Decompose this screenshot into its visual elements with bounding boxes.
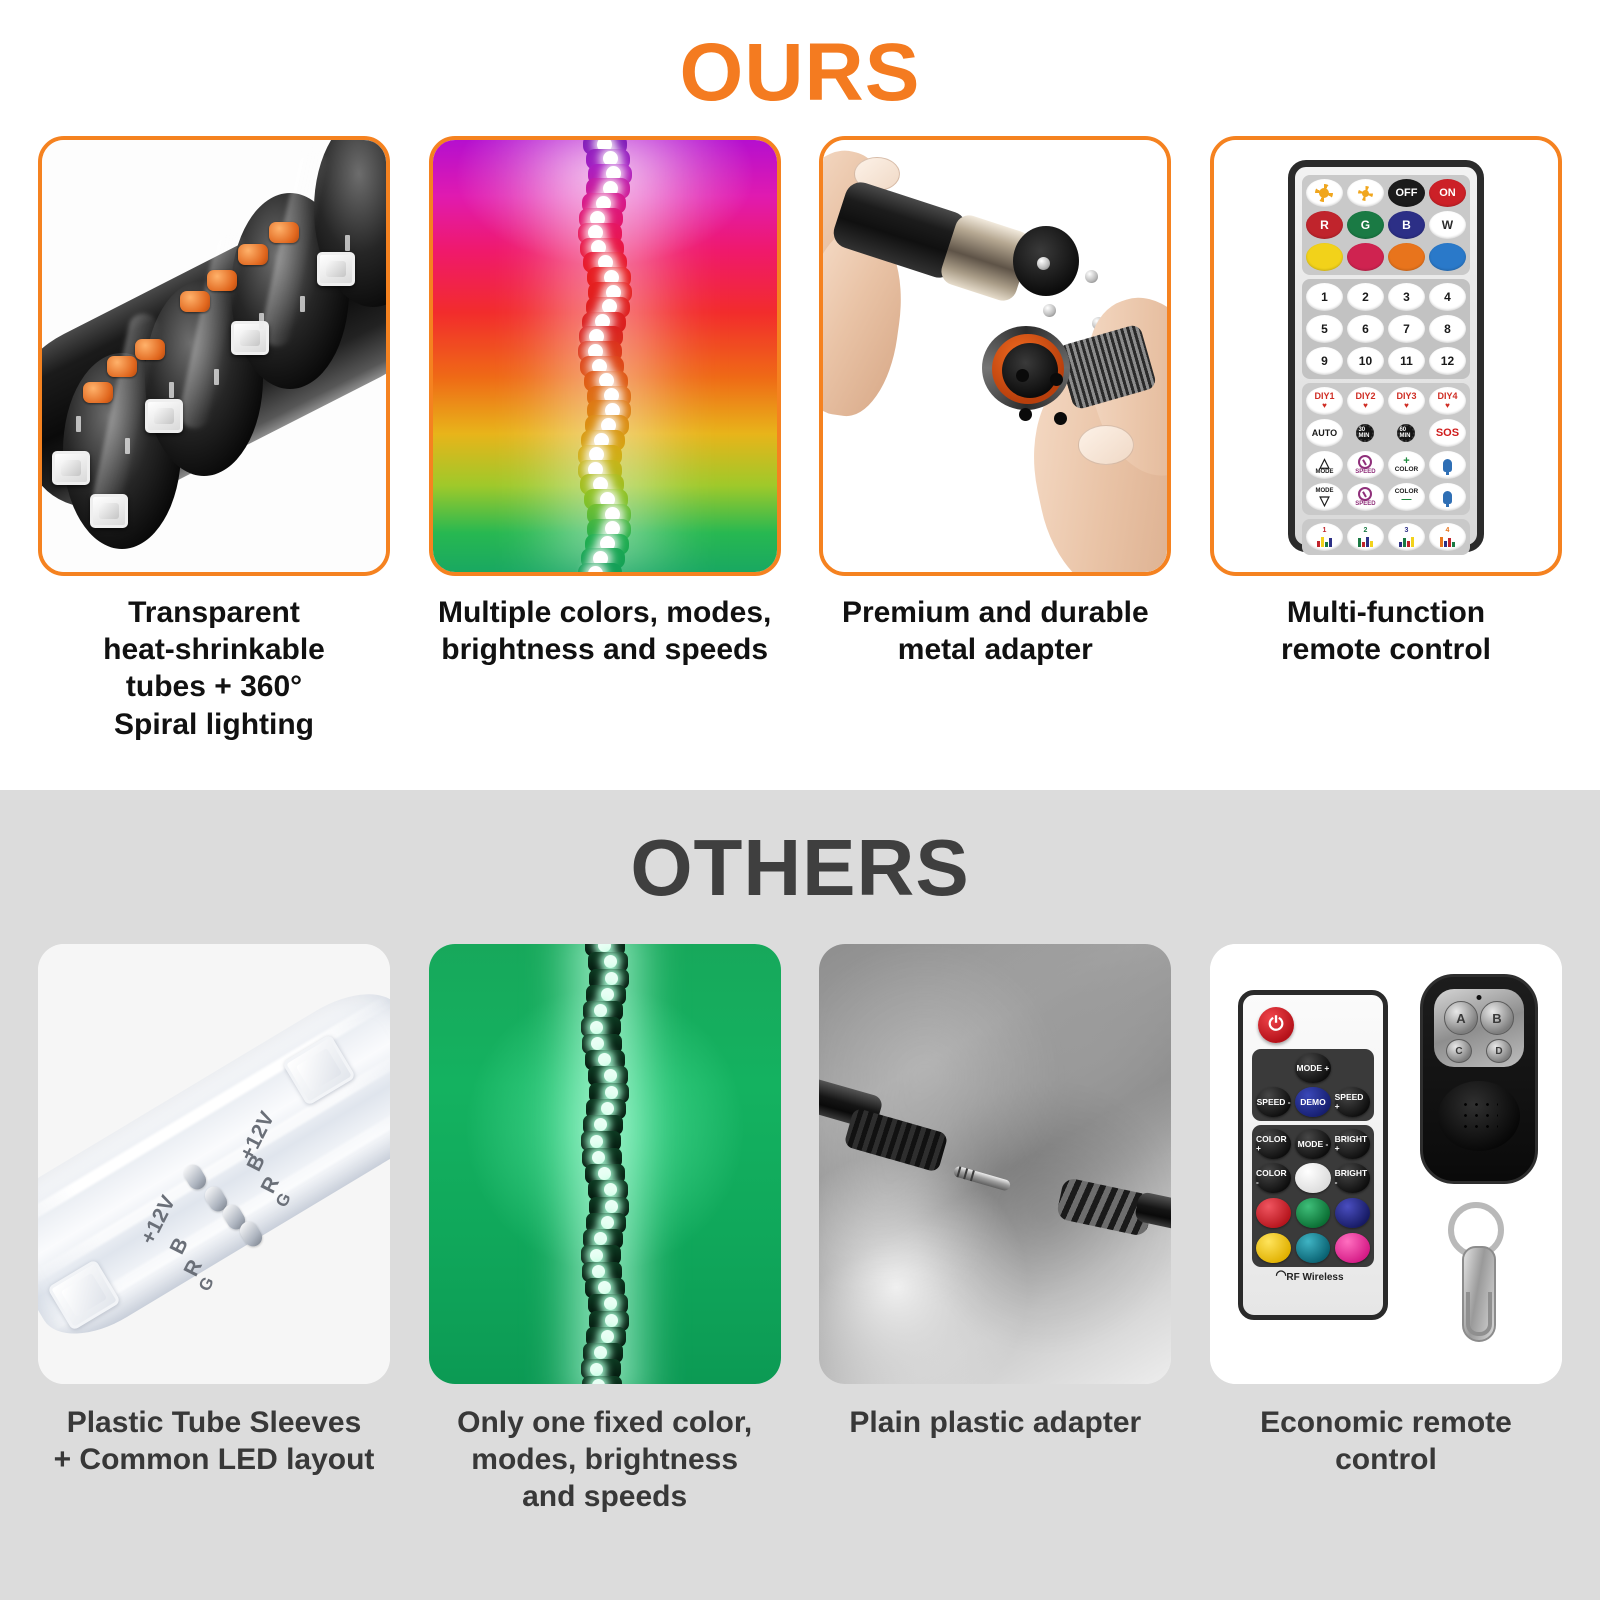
mode-up-label: MODE	[1315, 469, 1333, 475]
metal-adapter-thumbnail[interactable]	[819, 136, 1171, 576]
keyfob-button-d[interactable]: D	[1486, 1039, 1512, 1063]
ir-panel-music: 1 2	[1302, 519, 1470, 555]
silkscreen-mark	[259, 313, 264, 329]
equalizer-icon	[1317, 534, 1332, 547]
metal-adapter-photo	[823, 140, 1167, 572]
speed-up-button[interactable]: SPEED	[1347, 451, 1384, 479]
rf-row-color-mode-bright: COLOR + MODE - BRIGHT +	[1256, 1129, 1370, 1159]
blue-button[interactable]: B	[1388, 211, 1425, 239]
on-button[interactable]: ON	[1429, 179, 1466, 207]
rf-remote-body: ⏻ MODE + SPEED - DEMO	[1238, 990, 1388, 1320]
number-button-11[interactable]: 11	[1388, 347, 1425, 375]
card-caption: Multiple colors, modes, brightness and s…	[429, 594, 781, 668]
solder-pad	[238, 244, 268, 265]
keyfob-faceplate: A B C D	[1434, 989, 1524, 1067]
music-4-label: 4	[1446, 527, 1450, 534]
rf-row-colors-1	[1256, 1198, 1370, 1228]
led-highlight	[590, 1021, 603, 1034]
number-button-9[interactable]: 9	[1306, 347, 1343, 375]
red-button[interactable]: R	[1306, 211, 1343, 239]
economic-remote-photo: ⏻ MODE + SPEED - DEMO	[1210, 944, 1562, 1384]
silkscreen-mark	[214, 369, 219, 385]
led-highlight	[605, 972, 618, 985]
speed-gauge-icon	[1358, 487, 1372, 501]
card-caption: Plastic Tube Sleeves + Common LED layout	[38, 1404, 390, 1478]
led-chip	[52, 451, 90, 485]
solder-pad	[269, 222, 299, 243]
minus-icon: —	[1401, 495, 1411, 505]
green-strip-thumbnail[interactable]	[429, 944, 781, 1384]
equalizer-icon	[1399, 534, 1414, 547]
rf-row-color-white-bright: COLOR - BRIGHT -	[1256, 1163, 1370, 1193]
power-icon: ⏻	[1268, 1014, 1283, 1036]
number-button-1[interactable]: 1	[1306, 283, 1343, 311]
equalizer-icon	[1440, 534, 1455, 547]
color-button-red[interactable]	[1256, 1198, 1291, 1228]
green-strip-photo	[429, 944, 781, 1384]
timer-30min-button[interactable]: 30 MIN	[1347, 419, 1384, 447]
color-button-navy[interactable]	[1335, 1198, 1370, 1228]
card-caption: Only one fixed color, modes, brightness …	[429, 1404, 781, 1516]
brightness-up-button[interactable]	[1306, 179, 1343, 207]
number-button-8[interactable]: 8	[1429, 315, 1466, 343]
color-swatch-yellow[interactable]	[1306, 243, 1343, 271]
sun-dim-icon	[1362, 190, 1369, 197]
spiral-tube-thumbnail[interactable]	[38, 136, 390, 576]
solder-pad	[180, 291, 210, 312]
color-button-pink[interactable]	[1335, 1233, 1370, 1263]
microphone-icon	[1443, 459, 1452, 472]
heart-icon: ♥	[1363, 402, 1368, 410]
off-button[interactable]: OFF	[1388, 179, 1425, 207]
socket-face	[1002, 343, 1058, 398]
rf-brand-label: RF Wireless	[1252, 1272, 1374, 1283]
sos-button[interactable]: SOS	[1429, 419, 1466, 447]
rf-pad-bottom: COLOR + MODE - BRIGHT + COLOR - BRIGHT -	[1252, 1125, 1374, 1267]
auto-button[interactable]: AUTO	[1306, 419, 1343, 447]
green-lit-strip	[585, 944, 625, 1384]
ir-row-auto: AUTO 30 MIN 60 MIN SOS	[1306, 419, 1466, 447]
rainbow-strip-photo	[433, 140, 777, 572]
ir-panel-power: OFF ON R G B W	[1302, 175, 1470, 275]
silkscreen-mark	[76, 416, 81, 432]
silkscreen-mark	[300, 296, 305, 312]
music-mode-1-button[interactable]: 1	[1306, 523, 1343, 551]
silkscreen-mark	[169, 382, 174, 398]
speed-up-label: SPEED	[1355, 469, 1375, 475]
ir-row-mode-down: MODE ▽ SPEED COLOR —	[1306, 483, 1466, 511]
white-button[interactable]: W	[1429, 211, 1466, 239]
color-minus-button[interactable]: COLOR -	[1256, 1163, 1291, 1193]
demo-button[interactable]: DEMO	[1295, 1087, 1330, 1117]
timer-60-icon: 60 MIN	[1397, 424, 1415, 442]
heart-icon: ♥	[1404, 402, 1409, 410]
rf-pad-top: MODE + SPEED - DEMO SPEED +	[1252, 1049, 1374, 1121]
section-title-ours: OURS	[0, 0, 1600, 114]
ir-row-numbers-1: 1 2 3 4	[1306, 283, 1466, 311]
solder-pad	[107, 356, 137, 377]
solder-pad	[135, 339, 165, 360]
bright-minus-button[interactable]: BRIGHT -	[1335, 1163, 1370, 1193]
brightness-down-button[interactable]	[1347, 179, 1384, 207]
speed-gauge-icon	[1358, 455, 1372, 469]
connector-pin	[1085, 270, 1098, 283]
number-button-7[interactable]: 7	[1388, 315, 1425, 343]
others-card-green-strip: Only one fixed color, modes, brightness …	[429, 944, 781, 1516]
chevron-down-icon: ▽	[1319, 494, 1329, 507]
microphone-icon	[1443, 491, 1452, 504]
mode-plus-button[interactable]: MODE +	[1295, 1053, 1330, 1083]
blurred-background	[819, 944, 1171, 1384]
ir-row-mode-up: △ MODE SPEED + COLOR	[1306, 451, 1466, 479]
mic-button-1[interactable]	[1429, 451, 1466, 479]
led-chip	[317, 252, 355, 286]
ir-row-numbers-2: 5 6 7 8	[1306, 315, 1466, 343]
card-caption: Multi-function remote control	[1210, 594, 1562, 668]
card-caption: Plain plastic adapter	[819, 1404, 1171, 1441]
color-plus-button[interactable]: COLOR +	[1256, 1129, 1291, 1159]
rf-spacer	[1256, 1053, 1291, 1083]
rf-row-mode-plus: MODE +	[1256, 1053, 1370, 1083]
led-chip	[90, 494, 128, 528]
mode-minus-button[interactable]: MODE -	[1295, 1129, 1330, 1159]
diy1-label: DIY1	[1314, 392, 1334, 401]
keyfob-button-a[interactable]: A	[1444, 1001, 1478, 1035]
equalizer-icon	[1358, 534, 1373, 547]
lobster-clasp	[1462, 1246, 1496, 1342]
mode-down-button[interactable]: MODE ▽	[1306, 483, 1343, 511]
led-highlight	[592, 1151, 605, 1164]
ir-row-music: 1 2	[1306, 523, 1466, 551]
color-plus-label: COLOR	[1395, 467, 1418, 474]
socket-hole	[1019, 408, 1032, 421]
music-mode-4-button[interactable]: 4	[1429, 523, 1466, 551]
number-button-5[interactable]: 5	[1306, 315, 1343, 343]
ir-panel-diy: DIY1 ♥ DIY2 ♥ DIY3 ♥	[1302, 383, 1470, 515]
plastic-sleeve-photo: +12V B R G +12V B R G	[38, 944, 390, 1384]
heart-icon: ♥	[1322, 402, 1327, 410]
heart-icon: ♥	[1445, 402, 1450, 410]
music-1-label: 1	[1323, 527, 1327, 534]
led-highlight	[601, 1330, 614, 1343]
silkscreen-mark	[125, 438, 130, 454]
section-title-others: OTHERS	[0, 790, 1600, 908]
socket-hole	[1054, 412, 1067, 425]
keyfob-button-c[interactable]: C	[1446, 1039, 1472, 1063]
section-ours: OURS	[0, 0, 1600, 790]
solder-pad	[83, 382, 113, 403]
rf-brand-text: RF Wireless	[1286, 1272, 1343, 1283]
card-caption: Transparent heat-shrinkable tubes + 360°…	[38, 594, 390, 743]
rf-row-speed-demo: SPEED - DEMO SPEED +	[1256, 1087, 1370, 1117]
led-highlight	[591, 1037, 604, 1050]
keyfob-indicator-led	[1476, 995, 1481, 1000]
ours-card-rainbow-strip: Multiple colors, modes, brightness and s…	[429, 136, 781, 743]
others-card-economic-remote: ⏻ MODE + SPEED - DEMO	[1210, 944, 1562, 1516]
music-mode-2-button[interactable]: 2	[1347, 523, 1384, 551]
comparison-infographic: OURS	[0, 0, 1600, 1600]
silkscreen-mark	[345, 235, 350, 251]
ir-row-diy: DIY1 ♥ DIY2 ♥ DIY3 ♥	[1306, 387, 1466, 415]
led-highlight	[590, 1249, 603, 1262]
diy3-label: DIY3	[1396, 392, 1416, 401]
color-minus-button[interactable]: COLOR —	[1388, 483, 1425, 511]
color-swatch-crimson[interactable]	[1347, 243, 1384, 271]
ir-row-numbers-3: 9 10 11 12	[1306, 347, 1466, 375]
speed-plus-button[interactable]: SPEED +	[1335, 1087, 1370, 1117]
diy4-label: DIY4	[1437, 392, 1457, 401]
keyfob-remote-body: A B C D	[1420, 974, 1538, 1184]
ours-card-grid: Transparent heat-shrinkable tubes + 360°…	[0, 136, 1600, 743]
diy2-button[interactable]: DIY2 ♥	[1347, 387, 1384, 415]
rainbow-strip-thumbnail[interactable]	[429, 136, 781, 576]
music-mode-3-button[interactable]: 3	[1388, 523, 1425, 551]
keyfob-speaker-holes	[1460, 1099, 1498, 1133]
fingernail	[1078, 425, 1134, 465]
diy1-button[interactable]: DIY1 ♥	[1306, 387, 1343, 415]
ir-remote-body: OFF ON R G B W	[1288, 160, 1484, 552]
number-button-4[interactable]: 4	[1429, 283, 1466, 311]
mode-up-button[interactable]: △ MODE	[1306, 451, 1343, 479]
ours-card-spiral-tube: Transparent heat-shrinkable tubes + 360°…	[38, 136, 390, 743]
color-plus-button[interactable]: + COLOR	[1388, 451, 1425, 479]
green-button[interactable]: G	[1347, 211, 1384, 239]
led-highlight	[605, 1200, 618, 1213]
card-caption: Premium and durable metal adapter	[819, 594, 1171, 668]
color-swatch-orange[interactable]	[1388, 243, 1425, 271]
music-2-label: 2	[1364, 527, 1368, 534]
others-card-plastic-sleeve: +12V B R G +12V B R G Plastic Tube Sleev…	[38, 944, 390, 1516]
ir-row-power: OFF ON	[1306, 179, 1466, 207]
color-swatch-blue[interactable]	[1429, 243, 1466, 271]
led-highlight	[605, 1314, 618, 1327]
ours-card-metal-adapter: Premium and durable metal adapter	[819, 136, 1171, 743]
diy4-button[interactable]: DIY4 ♥	[1429, 387, 1466, 415]
ir-panel-numbers: 1 2 3 4 5 6 7 8	[1302, 279, 1470, 379]
speed-down-label: SPEED	[1355, 501, 1375, 507]
ir-row-rgbw: R G B W	[1306, 211, 1466, 239]
number-button-6[interactable]: 6	[1347, 315, 1384, 343]
plastic-sleeve-thumbnail[interactable]: +12V B R G +12V B R G	[38, 944, 390, 1384]
bright-plus-button[interactable]: BRIGHT +	[1335, 1129, 1370, 1159]
others-card-grid: +12V B R G +12V B R G Plastic Tube Sleev…	[0, 944, 1600, 1516]
power-button[interactable]: ⏻	[1258, 1007, 1294, 1043]
color-button-yellow[interactable]	[1256, 1233, 1291, 1263]
connector-pin	[1037, 257, 1050, 270]
chevron-up-icon: △	[1319, 456, 1329, 469]
timer-60min-button[interactable]: 60 MIN	[1388, 419, 1425, 447]
plastic-adapter-photo	[819, 944, 1171, 1384]
socket-hole	[1016, 369, 1029, 382]
diy2-label: DIY2	[1355, 392, 1375, 401]
speed-down-button[interactable]: SPEED	[1347, 483, 1384, 511]
number-button-10[interactable]: 10	[1347, 347, 1384, 375]
led-highlight	[592, 1265, 605, 1278]
rf-spacer	[1335, 1053, 1370, 1083]
others-card-plastic-adapter: Plain plastic adapter	[819, 944, 1171, 1516]
led-chip	[145, 399, 183, 433]
keyfob-button-b[interactable]: B	[1480, 1001, 1514, 1035]
sun-bright-icon	[1319, 188, 1329, 198]
number-button-12[interactable]: 12	[1429, 347, 1466, 375]
ours-card-ir-remote: OFF ON R G B W	[1210, 136, 1562, 743]
connector-pin	[1043, 304, 1056, 317]
diy3-button[interactable]: DIY3 ♥	[1388, 387, 1425, 415]
rf-row-colors-2	[1256, 1233, 1370, 1263]
speed-minus-button[interactable]: SPEED -	[1256, 1087, 1291, 1117]
strip-label-g: G	[195, 1273, 219, 1294]
led-highlight	[590, 1363, 603, 1376]
led-highlight	[605, 1086, 618, 1099]
music-3-label: 3	[1405, 527, 1409, 534]
plastic-adapter-thumbnail[interactable]	[819, 944, 1171, 1384]
ir-row-color-swatches	[1306, 243, 1466, 271]
spiral-tube-photo	[42, 140, 386, 572]
ir-remote-thumbnail[interactable]: OFF ON R G B W	[1210, 136, 1562, 576]
color-button-teal[interactable]	[1296, 1233, 1331, 1263]
timer-30-icon: 30 MIN	[1356, 424, 1374, 442]
lit-led-strip	[583, 136, 627, 576]
card-caption: Economic remote control	[1210, 1404, 1562, 1478]
section-others: OTHERS	[0, 790, 1600, 1600]
solder-pad	[207, 270, 237, 291]
led-highlight	[604, 1297, 617, 1310]
economic-remote-thumbnail[interactable]: ⏻ MODE + SPEED - DEMO	[1210, 944, 1562, 1384]
number-button-3[interactable]: 3	[1388, 283, 1425, 311]
ir-remote-photo: OFF ON R G B W	[1214, 140, 1558, 572]
number-button-2[interactable]: 2	[1347, 283, 1384, 311]
led-highlight	[588, 566, 603, 576]
white-button[interactable]	[1295, 1163, 1330, 1193]
color-button-green[interactable]	[1296, 1198, 1331, 1228]
keyfob-speaker-grille	[1438, 1081, 1520, 1151]
mic-button-2[interactable]	[1429, 483, 1466, 511]
led-highlight	[590, 1135, 603, 1148]
